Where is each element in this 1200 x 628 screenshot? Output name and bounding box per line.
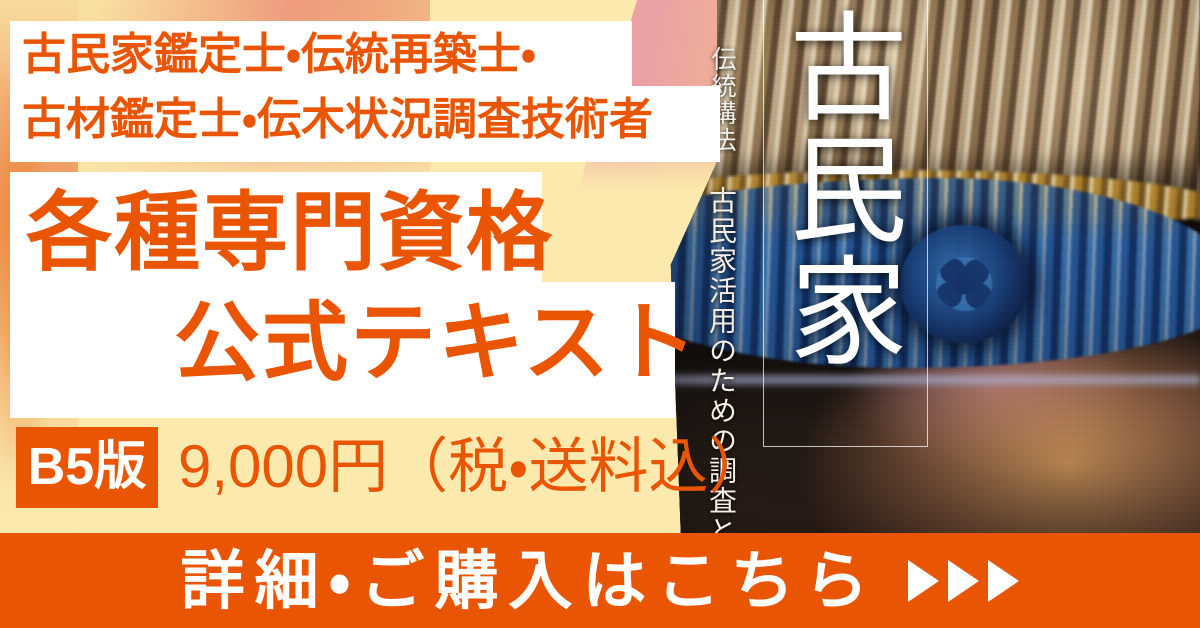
subheading-line-2: 古材鑑定士・伝木状況調査技術者 (22, 98, 653, 142)
triangle-right-icon (908, 560, 939, 602)
headline-line-1: 各種専門資格 (26, 190, 554, 276)
triangle-right-icon (948, 560, 979, 602)
cta-arrow-group (908, 560, 1019, 602)
headline-line-2: 公式テキスト (174, 300, 699, 386)
cta-label: 詳細・ご購入はこちら (181, 549, 879, 613)
promo-banner: 伝統構法 古民家活用のための調査と再生の 古民家 古民家鑑定士・伝統再築士・ 古… (0, 0, 1200, 628)
price-text: 9,000円（税・送料込） (178, 437, 769, 497)
subheading-line-1: 古民家鑑定士・伝統再築士・ (22, 33, 536, 77)
cover-title: 古民家 (786, 6, 906, 436)
format-badge: B5版 (16, 427, 158, 508)
triangle-right-icon (988, 560, 1019, 602)
cta-bar-button[interactable]: 詳細・ご購入はこちら (0, 533, 1200, 628)
